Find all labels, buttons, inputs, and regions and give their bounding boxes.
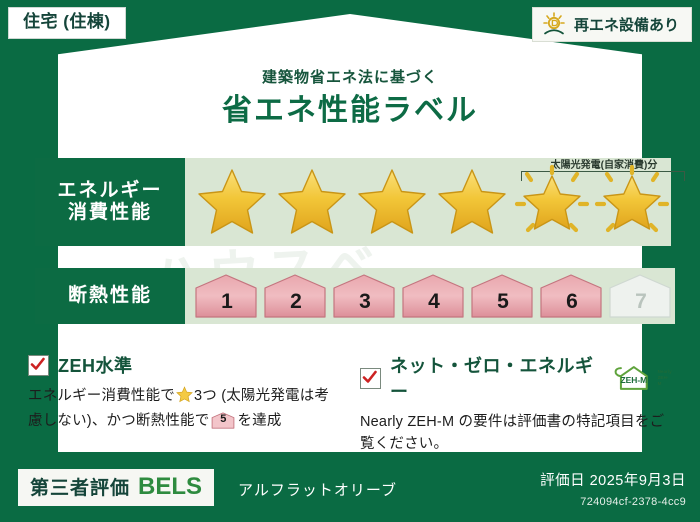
insulation-level-badges: 1 2 3 4 5 — [185, 273, 675, 319]
building-type-tag: 住宅 (住棟) — [8, 7, 126, 39]
insulation-level-badge: 2 — [262, 273, 330, 319]
third-party-eval-label: 第三者評価 — [30, 473, 130, 500]
zeh-m-logo: ZEH-M Nearly ZEH-M — [611, 365, 672, 391]
star-icon — [353, 163, 431, 241]
insulation-level-badge: 4 — [400, 273, 468, 319]
label-subtitle: 建築物省エネ法に基づく — [0, 66, 700, 87]
zeh-standard-title: ZEH水準 — [58, 352, 133, 378]
zeh-standard-header: ZEH水準 — [28, 352, 340, 378]
insulation-label: 断熱性能 — [68, 285, 152, 307]
zeh-desc-star-text: 3つ (太陽光発電 — [194, 388, 300, 404]
insulation-level-number: 2 — [262, 290, 330, 314]
insulation-level-number: 5 — [469, 290, 537, 314]
star-icon — [273, 163, 351, 241]
renewable-equipment-badge: 再エネ設備あり — [532, 7, 692, 42]
insulation-level-number: 7 — [607, 290, 675, 314]
energy-performance-row: エネルギー 消費性能 太陽光発電(自家消費)分 — [35, 158, 665, 246]
svg-text:ZEH-M: ZEH-M — [620, 375, 647, 385]
checkbox-checked — [28, 355, 49, 376]
net-zero-energy-title: ネット・ゼロ・エネルギー — [390, 352, 598, 404]
star-rating — [185, 163, 671, 241]
energy-performance-stars-panel: 太陽光発電(自家消費)分 — [185, 158, 671, 246]
zeh-standard-column: ZEH水準 エネルギー消費性能で3つ (太陽光発電は考慮しない)、かつ断熱性能で… — [28, 352, 340, 456]
insulation-performance-row-label: 断熱性能 — [35, 268, 185, 324]
energy-label-line2: 消費性能 — [68, 202, 152, 224]
insulation-badge-inline: 5 — [211, 412, 235, 429]
energy-label-line1: エネルギー — [57, 180, 162, 202]
insulation-level-number: 1 — [193, 290, 261, 314]
insulation-performance-row: 断熱性能 1 2 3 4 — [35, 268, 665, 324]
net-zero-energy-column: ネット・ゼロ・エネルギー ZEH-M Nearly ZEH-M Nearly Z… — [360, 352, 672, 456]
renewable-equipment-label: 再エネ設備あり — [574, 14, 679, 35]
insulation-level-badge: 6 — [538, 273, 606, 319]
label-title: 省エネ性能ラベル — [0, 85, 700, 129]
insulation-level-badge: 3 — [331, 273, 399, 319]
zeh-desc-part3: を達成 — [237, 413, 281, 429]
building-name: アルフラットオリーブ — [238, 479, 397, 500]
checkbox-checked — [360, 368, 381, 389]
evaluation-id: 724094cf-2378-4cc9 — [580, 496, 686, 508]
solar-sun-icon — [541, 12, 567, 36]
zeh-m-logo-sub2: ZEH-M — [658, 375, 672, 386]
zeh-criteria-columns: ZEH水準 エネルギー消費性能で3つ (太陽光発電は考慮しない)、かつ断熱性能で… — [28, 352, 672, 456]
bels-certification-badge: 第三者評価 BELS — [18, 469, 214, 506]
star-icon-solar — [593, 163, 671, 241]
energy-performance-label: 住宅 (住棟) 再エネ設備あり 建築物省エネ法に基づく 省エネ性能ラベル ハウス… — [0, 0, 700, 522]
zeh-desc-part1: エネルギー消費性能で — [28, 388, 175, 404]
insulation-level-badge-inactive: 7 — [607, 273, 675, 319]
evaluation-date: 評価日 2025年9月3日 — [540, 469, 686, 490]
energy-performance-row-label: エネルギー 消費性能 — [35, 158, 185, 246]
star-icon — [193, 163, 271, 241]
insulation-level-number: 4 — [400, 290, 468, 314]
insulation-levels-panel: 1 2 3 4 5 — [185, 268, 675, 324]
insulation-level-number: 6 — [538, 290, 606, 314]
star-icon-solar — [513, 163, 591, 241]
star-icon — [433, 163, 511, 241]
net-zero-energy-description: Nearly ZEH-M の要件は評価書の特記項目をご覧ください。 — [360, 411, 672, 456]
zeh-standard-description: エネルギー消費性能で3つ (太陽光発電は考慮しない)、かつ断熱性能で5を達成 — [28, 385, 340, 433]
insulation-level-badge: 5 — [469, 273, 537, 319]
bels-brand-label: BELS — [138, 473, 202, 501]
insulation-badge-inline-number: 5 — [211, 411, 235, 428]
insulation-level-number: 3 — [331, 290, 399, 314]
net-zero-energy-header: ネット・ゼロ・エネルギー ZEH-M Nearly ZEH-M — [360, 352, 672, 404]
star-icon-inline — [176, 386, 193, 410]
insulation-level-badge: 1 — [193, 273, 261, 319]
